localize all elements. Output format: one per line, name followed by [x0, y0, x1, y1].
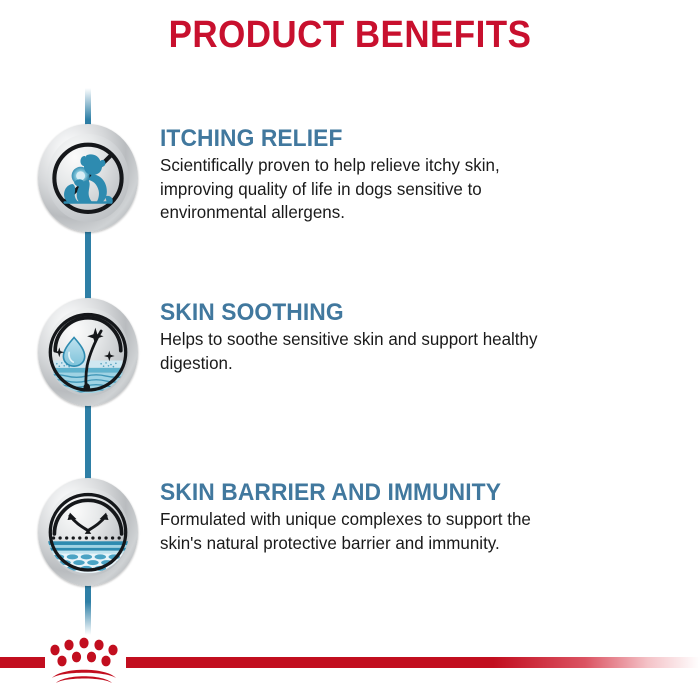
benefit-body: Scientifically proven to help relieve it… — [160, 154, 577, 224]
dog-scratching-prohibited-icon — [47, 134, 129, 223]
benefit-heading: SKIN BARRIER AND IMMUNITY — [160, 480, 569, 505]
benefit-icon-wrapper — [38, 478, 138, 586]
benefit-item-itching-relief: ITCHING RELIEF Scientifically proven to … — [0, 124, 700, 232]
footer-bar-left — [0, 657, 45, 668]
benefit-icon-wrapper — [38, 298, 138, 406]
benefit-item-skin-barrier-and-immunity: SKIN BARRIER AND IMMUNITY Formulated wit… — [0, 478, 700, 586]
benefit-text-block: ITCHING RELIEF Scientifically proven to … — [160, 124, 590, 225]
water-droplet-hair-follicle-icon — [47, 308, 129, 397]
benefit-text-block: SKIN BARRIER AND IMMUNITY Formulated wit… — [160, 478, 590, 555]
page-title: PRODUCT BENEFITS — [28, 14, 672, 57]
connector-line-bottom — [85, 580, 91, 635]
footer-bar-right — [126, 657, 700, 668]
benefit-heading: SKIN SOOTHING — [160, 300, 569, 325]
skin-barrier-arrows-icon — [47, 488, 129, 577]
benefit-text-block: SKIN SOOTHING Helps to soothe sensitive … — [160, 298, 590, 375]
benefit-heading: ITCHING RELIEF — [160, 126, 569, 151]
benefit-item-skin-soothing: SKIN SOOTHING Helps to soothe sensitive … — [0, 298, 700, 406]
benefit-icon-wrapper — [38, 124, 138, 232]
benefit-body: Formulated with unique complexes to supp… — [160, 508, 577, 555]
royal-canin-crown-logo — [44, 632, 124, 688]
benefit-body: Helps to soothe sensitive skin and suppo… — [160, 328, 577, 375]
